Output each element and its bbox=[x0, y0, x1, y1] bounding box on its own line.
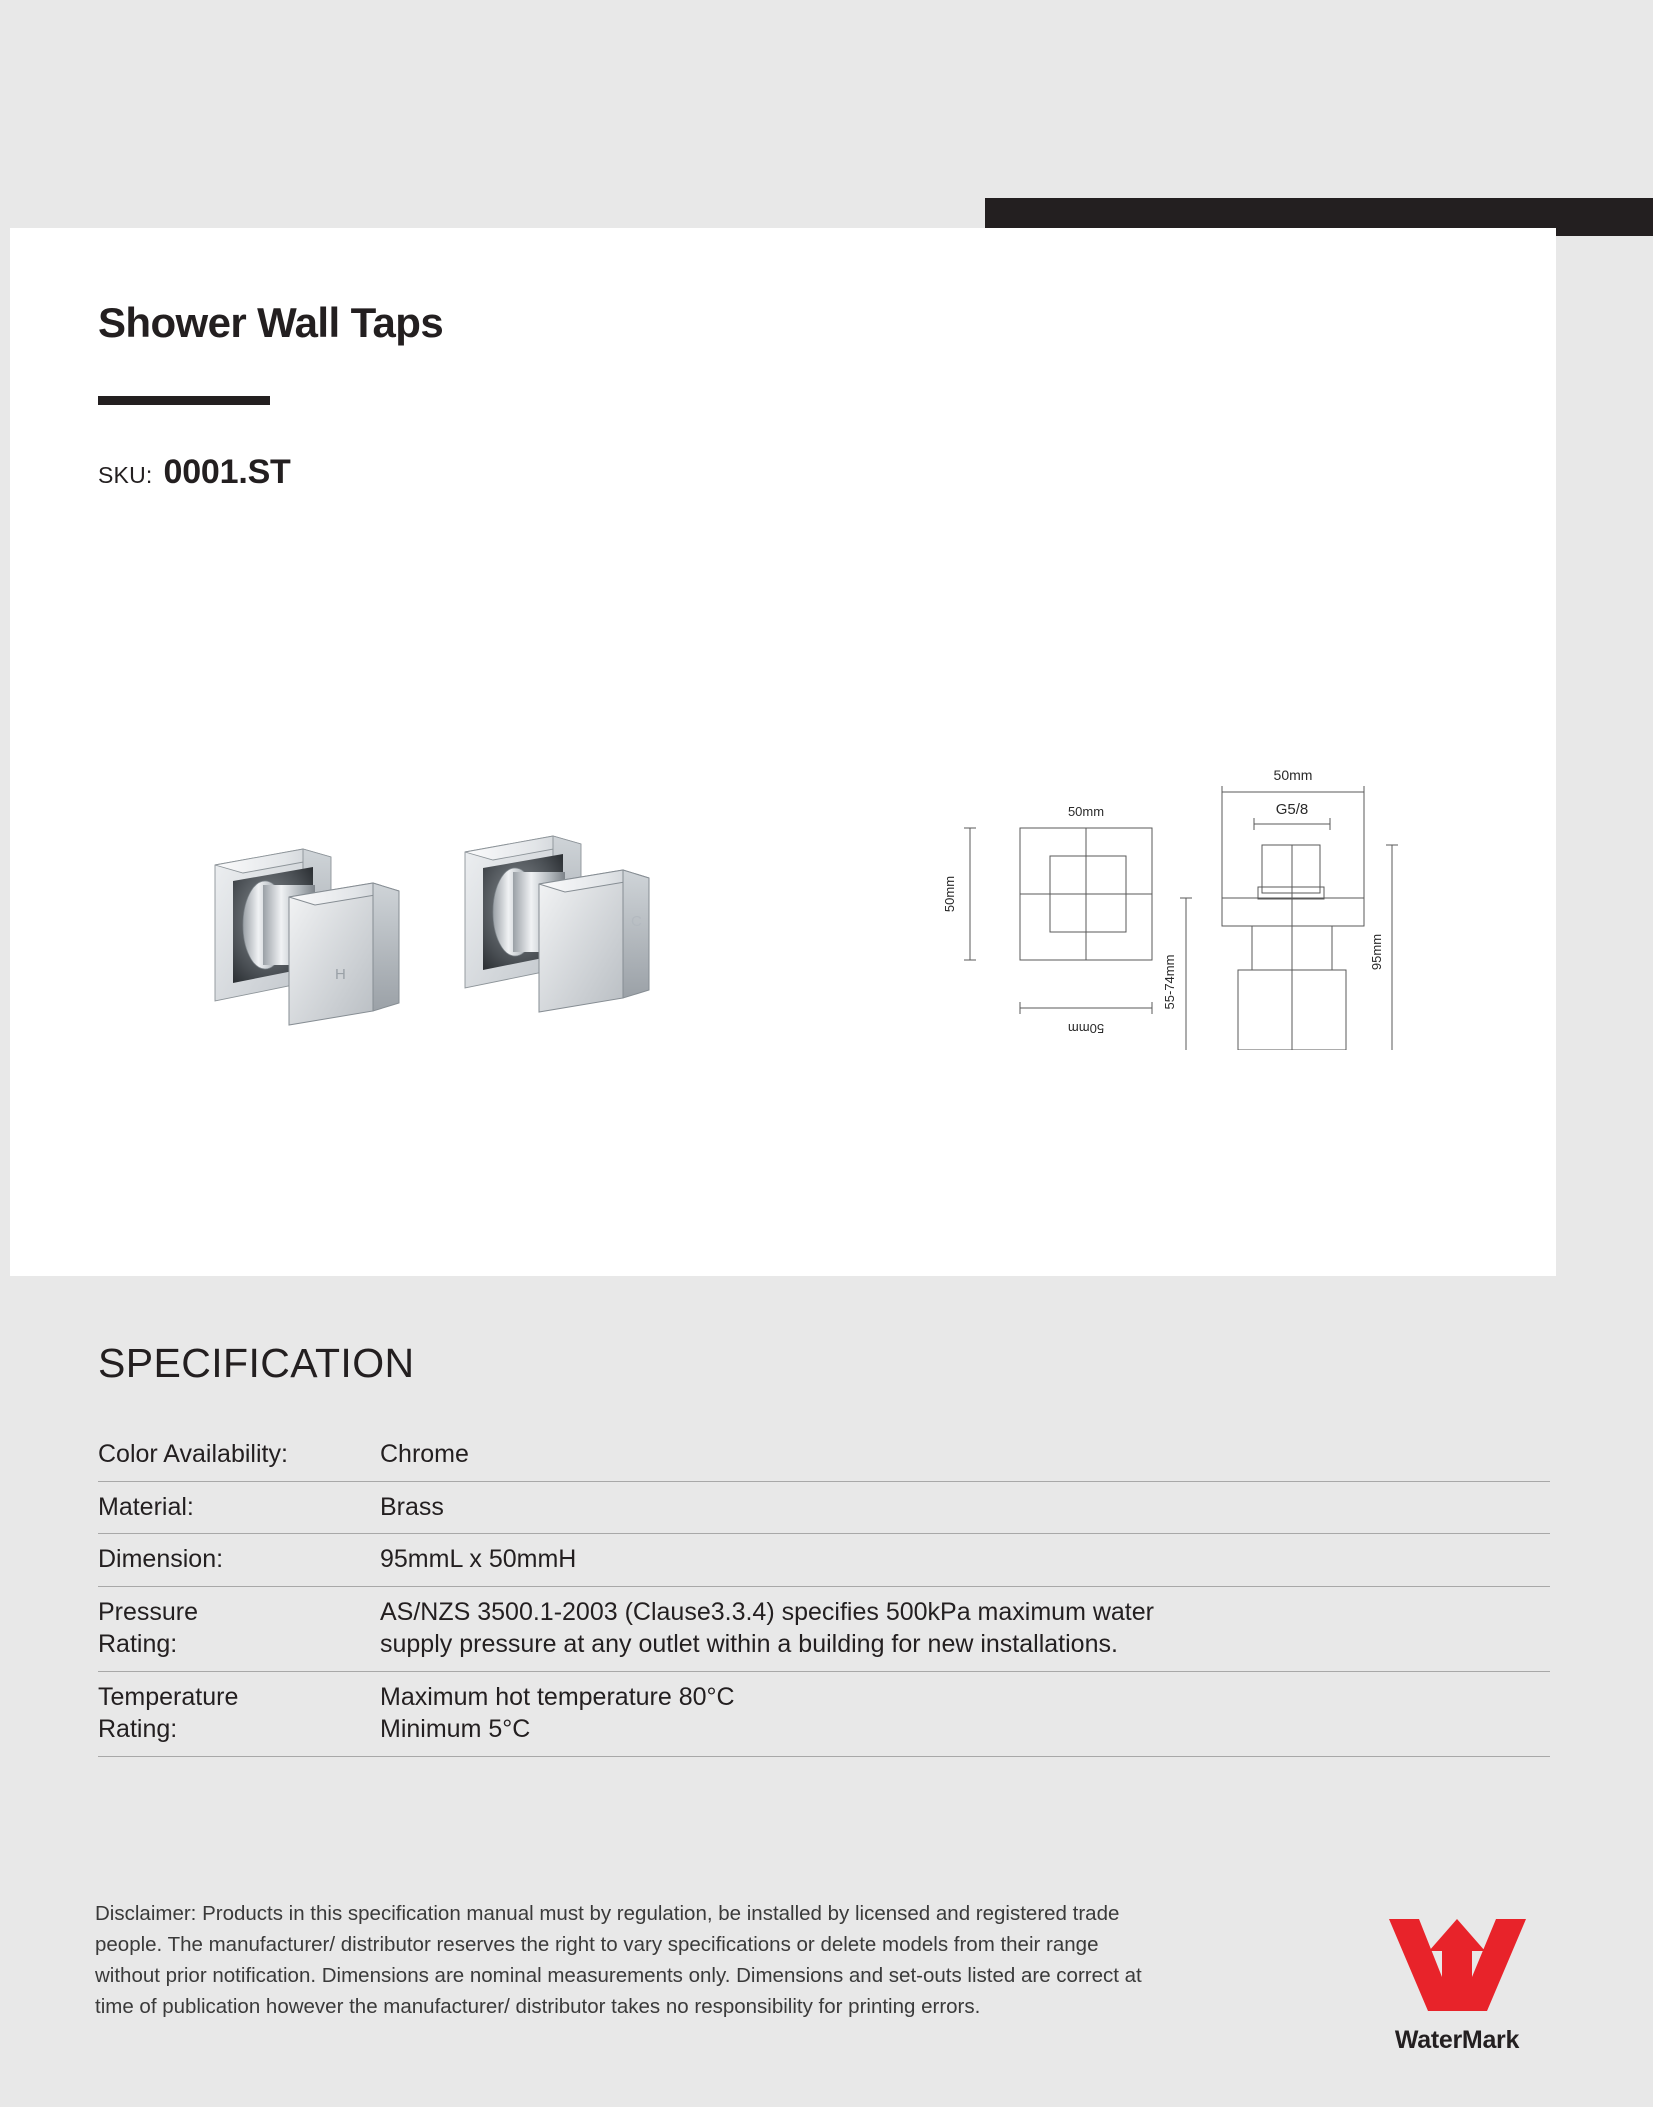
side-view-length-label: 95mm bbox=[1369, 934, 1384, 970]
watermark-logo: WaterMark bbox=[1352, 1915, 1562, 2065]
spec-key-pressure-line1: Pressure bbox=[98, 1596, 380, 1629]
front-view-bottom-label: 50mm bbox=[1068, 1021, 1104, 1036]
technical-drawing-svg: 50mm 50mm 50mm 50mm G5/8 55-74mm 95mm bbox=[890, 720, 1410, 1050]
front-view-height-label: 50mm bbox=[942, 876, 957, 912]
sku-value: 0001.ST bbox=[163, 453, 290, 492]
spec-value-temperature-line1: Maximum hot temperature 80°C bbox=[380, 1681, 1550, 1714]
spec-value-color: Chrome bbox=[380, 1429, 1550, 1481]
spec-value-material: Brass bbox=[380, 1481, 1550, 1534]
front-view-width-label: 50mm bbox=[1068, 804, 1104, 819]
spec-key-dimension: Dimension: bbox=[98, 1534, 380, 1587]
spec-key-pressure-line2: Rating: bbox=[98, 1628, 380, 1661]
table-row: Color Availability: Chrome bbox=[98, 1429, 1550, 1481]
side-view bbox=[1222, 845, 1364, 1050]
side-view-setout-dimension bbox=[1180, 898, 1192, 1050]
watermark-w-icon bbox=[1385, 1915, 1530, 2015]
table-row: Dimension: 95mmL x 50mmH bbox=[98, 1534, 1550, 1587]
table-row: Temperature Rating: Maximum hot temperat… bbox=[98, 1671, 1550, 1756]
title-underline-rule bbox=[98, 396, 270, 405]
product-photo: H C bbox=[185, 805, 705, 1055]
spec-key-temperature-line2: Rating: bbox=[98, 1713, 380, 1746]
sku-line: SKU: 0001.ST bbox=[98, 453, 998, 492]
title-block: Shower Wall Taps SKU: 0001.ST bbox=[98, 300, 998, 492]
watermark-wordmark: WaterMark bbox=[1352, 2026, 1562, 2055]
spec-key-temperature-line1: Temperature bbox=[98, 1681, 380, 1714]
spec-key-material: Material: bbox=[98, 1481, 380, 1534]
specification-section: SPECIFICATION Color Availability: Chrome… bbox=[98, 1340, 1558, 1757]
technical-drawing: 50mm 50mm 50mm 50mm G5/8 55-74mm 95mm bbox=[890, 720, 1410, 1050]
tap-hot: H bbox=[215, 849, 399, 1025]
page-title: Shower Wall Taps bbox=[98, 300, 998, 346]
product-photo-illustration: H C bbox=[185, 805, 705, 1055]
spec-value-temperature: Maximum hot temperature 80°C Minimum 5°C bbox=[380, 1671, 1550, 1756]
side-view-flange-width-label: 50mm bbox=[1274, 767, 1313, 783]
front-view-width-dimension bbox=[1020, 1002, 1152, 1014]
spec-key-color: Color Availability: bbox=[98, 1429, 380, 1481]
side-view-length-dimension bbox=[1386, 845, 1398, 1050]
disclaimer-text: Disclaimer: Products in this specificati… bbox=[95, 1898, 1165, 2023]
side-view-setout-label: 55-74mm bbox=[1162, 955, 1177, 1010]
table-row: Material: Brass bbox=[98, 1481, 1550, 1534]
side-view-thread-dimension bbox=[1254, 818, 1330, 830]
spec-value-pressure: AS/NZS 3500.1-2003 (Clause3.3.4) specifi… bbox=[380, 1586, 1550, 1671]
spec-value-pressure-line2: supply pressure at any outlet within a b… bbox=[380, 1628, 1550, 1661]
specification-heading: SPECIFICATION bbox=[98, 1340, 1558, 1387]
side-view-thread-label: G5/8 bbox=[1276, 801, 1309, 818]
spec-key-pressure: Pressure Rating: bbox=[98, 1586, 380, 1671]
table-row: Pressure Rating: AS/NZS 3500.1-2003 (Cla… bbox=[98, 1586, 1550, 1671]
spec-key-temperature: Temperature Rating: bbox=[98, 1671, 380, 1756]
front-view-height-dimension bbox=[964, 828, 976, 960]
hot-marking: H bbox=[335, 966, 346, 983]
sku-label: SKU: bbox=[98, 462, 152, 489]
spec-value-pressure-line1: AS/NZS 3500.1-2003 (Clause3.3.4) specifi… bbox=[380, 1596, 1550, 1629]
front-view bbox=[1020, 828, 1152, 960]
tap-cold: C bbox=[465, 836, 649, 1012]
cold-marking: C bbox=[631, 913, 642, 930]
spec-value-temperature-line2: Minimum 5°C bbox=[380, 1713, 1550, 1746]
specification-table: Color Availability: Chrome Material: Bra… bbox=[98, 1429, 1550, 1757]
spec-value-dimension: 95mmL x 50mmH bbox=[380, 1534, 1550, 1587]
